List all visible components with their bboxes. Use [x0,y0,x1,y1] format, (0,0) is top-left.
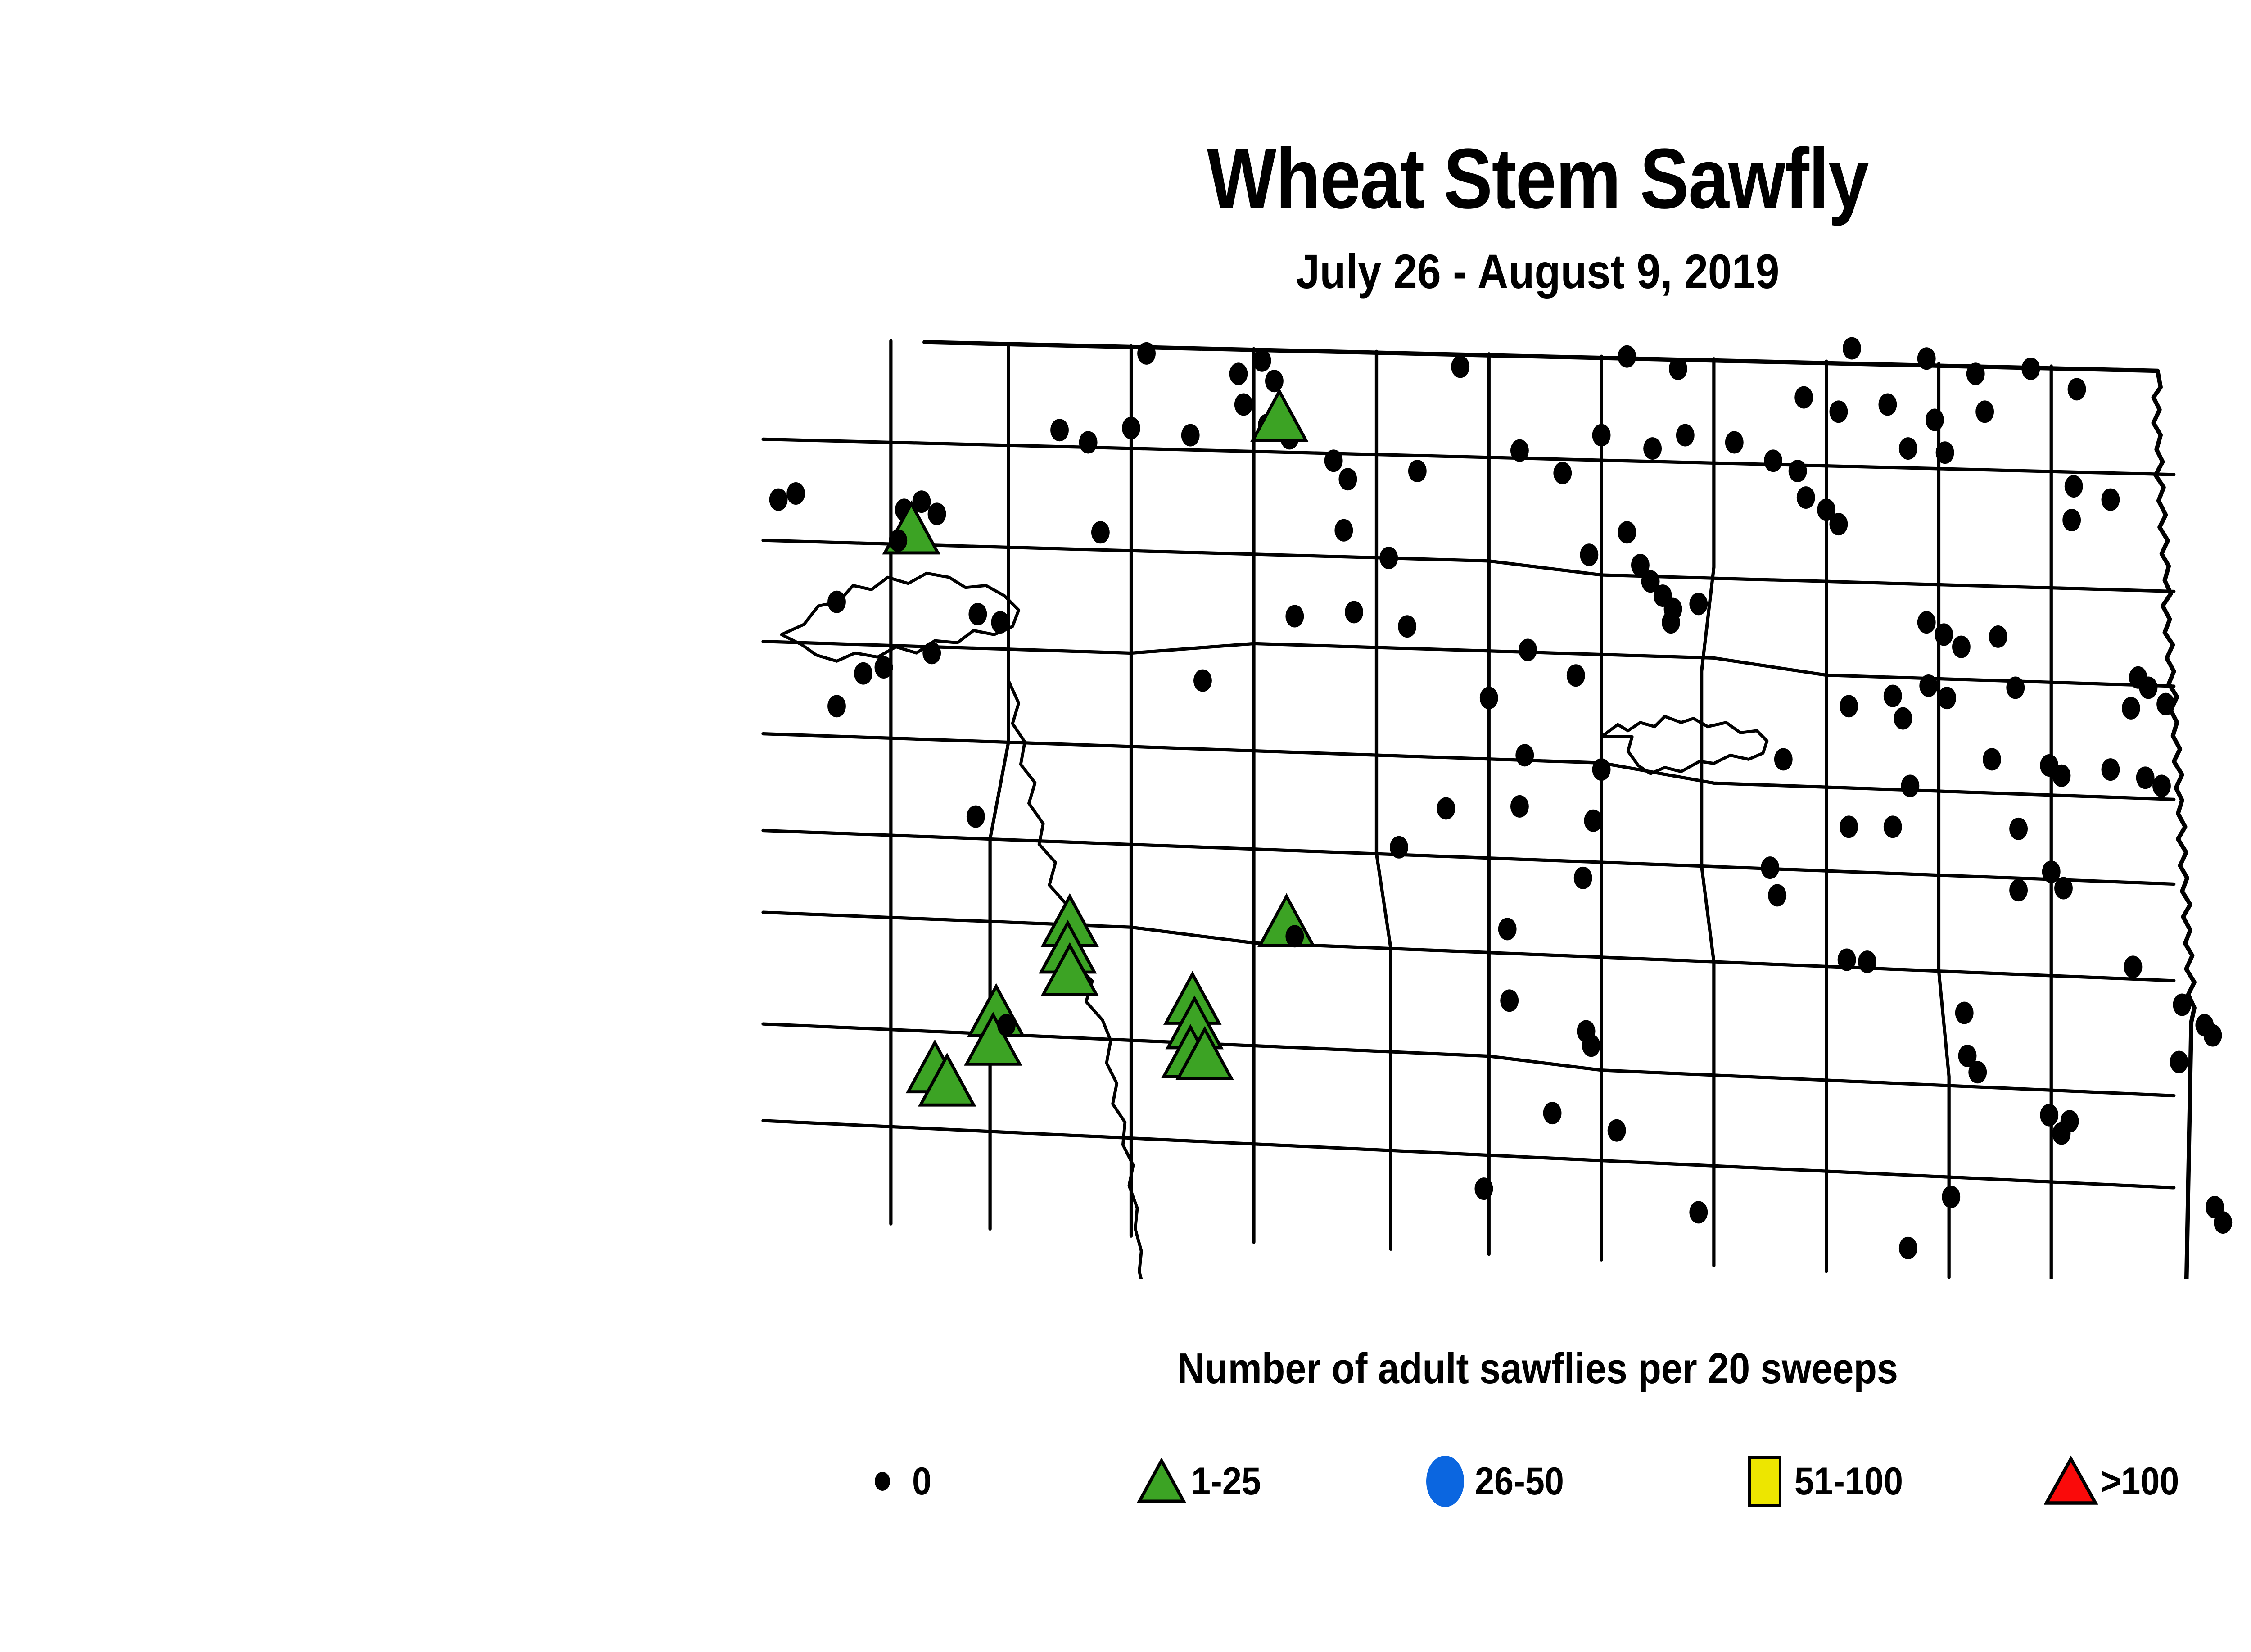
map-point-zero [2204,1024,2222,1047]
map-point-zero [1917,611,1936,634]
map-point-zero [769,489,788,511]
map-point-zero [1515,744,1534,766]
map-point-zero [1338,468,1357,490]
map-point-zero [1334,519,1353,542]
map-point-zero [1498,918,1517,940]
map-point-zero [1676,424,1695,447]
map-point-zero [2173,993,2191,1016]
blue-circle-icon [1418,1445,1472,1517]
state-outline [792,342,2195,1279]
map-point-zero [1574,867,1592,889]
map-point-zero [1952,636,1971,658]
county-row-line [763,439,2174,475]
map-point-zero [2065,475,2083,498]
sawfly-map-page: Wheat Stem Sawfly July 26 - August 9, 20… [0,0,2251,1652]
map-point-zero [1829,400,1848,423]
map-point-zero [875,656,893,679]
map-point-zero [1919,674,1938,697]
map-point-zero [1618,521,1636,543]
legend-item-51-100: 51-100 [1738,1436,1915,1526]
county-col-line [1702,359,1714,1266]
map-point-zero [1689,1201,1708,1223]
map-point-zero [1955,1002,1974,1024]
map-point-zero [1774,748,1793,770]
map-point-zero [2052,1122,2071,1145]
county-row-line [763,912,2174,981]
map-point-zero [2124,955,2142,978]
map-point-zero [1181,424,1200,447]
map-point-zero [1989,625,2007,648]
map-point-zero [786,482,805,505]
map-point-zero [1510,795,1529,818]
page-title: Wheat Stem Sawfly [215,130,2251,228]
map-point-zero [1091,521,1110,543]
map-point-zero [1592,424,1611,447]
map-point-zero [1234,393,1253,416]
map-point-zero [2062,509,2081,531]
black-dot-icon [855,1445,909,1517]
map-point-zero [827,695,846,717]
map-point-zero [1938,687,1956,709]
map-point-zero [1878,393,1897,416]
map-point-zero [1408,460,1427,482]
map-point-zero [1884,815,1902,838]
map-point-zero [1840,815,1858,838]
map-point-zero [2214,1211,2232,1234]
map-point-zero [1768,884,1786,906]
county-col-line [1377,351,1391,1249]
map-point-zero [1345,601,1363,623]
map-point-zero [1265,370,1284,392]
map-point-zero [1794,386,1813,409]
legend-item-over-100: >100 [2044,1436,2188,1526]
map-point-zero [1643,437,1662,460]
map-point-zero [1543,1102,1562,1124]
map-point-zero [1050,419,1069,441]
map-point-zero [1137,342,1156,365]
map-point-zero [1764,449,1782,472]
map-point-zero [967,806,985,828]
map-point-zero [2139,676,2158,699]
map-point-zero [1229,362,1248,385]
map-point-zero [2152,774,2171,797]
map-point-zero [1725,431,1744,453]
map-point-zero [2136,766,2155,789]
map-point-zero [1926,409,1944,431]
map-point-zero [1193,670,1212,692]
legend-label-51-100: 51-100 [1794,1459,1903,1504]
map-point-zero [1553,462,1572,484]
county-row-line [763,734,2174,800]
map-point-zero [1840,695,1858,717]
map-point-zero [827,591,846,613]
map-point-zero [1592,758,1611,781]
map-point-triangle [1253,391,1306,440]
legend-label-26-50: 26-50 [1475,1459,1564,1504]
map-point-zero [1975,400,1994,423]
legend-item-1-25: 1-25 [1135,1436,1269,1526]
map-point-zero [1510,439,1529,462]
green-triangle-icon [1135,1445,1189,1517]
map-point-zero [1789,460,1807,482]
map-point-zero [1122,417,1140,439]
yellow-square-icon [1738,1445,1792,1517]
map-point-zero [2021,358,2040,380]
red-triangle-icon [2044,1445,2098,1517]
map-point-zero [1901,774,1919,797]
map-point-zero [1285,605,1304,628]
map-point-zero [1797,486,1815,509]
map-point-zero [1608,1119,1626,1142]
map-point-zero [1935,623,1953,646]
map-point-zero [2009,818,2028,840]
map-point-zero [1884,685,1902,707]
map-point-zero [1480,687,1498,709]
map-point-zero [1324,449,1343,472]
map-point-zero [2170,1051,2188,1073]
county-col-line [1939,364,1949,1278]
legend-label-1-25: 1-25 [1191,1459,1261,1504]
map-point-zero [1942,1186,1960,1208]
map-point-zero [1899,437,1917,460]
map-point-zero [2040,1104,2058,1127]
map-point-zero [1917,347,1936,370]
map-point-zero [1966,362,1985,385]
legend-label-over-100: >100 [2101,1459,2179,1504]
map-point-zero [2102,758,2120,781]
map-point-zero [1618,345,1636,368]
map-point-zero [2009,879,2028,901]
map-point-zero [1519,638,1537,661]
map-point-zero [1079,431,1098,453]
map-point-zero [2054,877,2073,900]
map-point-zero [991,611,1009,634]
map-point-zero [1475,1177,1493,1200]
map-point-zero [1761,856,1779,879]
map-point-zero [889,529,907,552]
map-point-zero [1899,1237,1917,1259]
legend-label-0: 0 [912,1459,931,1504]
north-dakota-map [684,297,2251,1279]
county-col-line [990,344,1008,1229]
map-point-zero [1390,836,1408,859]
map-point-zero [1379,547,1398,569]
map-point-zero [1843,337,1861,360]
map-point-zero [2102,489,2120,511]
page-subtitle: July 26 - August 9, 2019 [185,243,2251,299]
map-point-zero [928,502,946,525]
legend-item-0: 0 [855,1436,934,1526]
legend-item-26-50: 26-50 [1418,1436,1574,1526]
map-point-zero [1662,611,1680,634]
map-point-zero [1253,349,1271,372]
map-point-zero [1689,593,1708,615]
map-point-zero [922,642,941,664]
map-point-zero [968,603,987,625]
map-point-zero [1437,797,1455,819]
map-point-zero [1584,810,1602,832]
county-row-line [763,540,2174,592]
map-point-zero [854,662,872,685]
map-point-zero [1500,989,1519,1012]
map-point-zero [1936,441,1954,464]
devils-lake-outline [1601,716,1767,774]
map-point-zero [1968,1061,1987,1083]
map-point-zero [1582,1034,1600,1057]
map-point-zero [1451,355,1469,378]
legend: 0 1-25 26-50 51-100 >100 [855,1436,2251,1540]
map-point-zero [997,1014,1016,1036]
map-point-zero [1398,615,1416,638]
map-point-zero [2122,697,2140,720]
map-point-zero [1580,543,1598,566]
legend-title: Number of adult sawflies per 20 sweeps [185,1344,2251,1394]
map-point-zero [1669,358,1687,380]
map-point-zero [1838,949,1856,971]
county-row-line [763,1121,2174,1188]
map-point-zero [2052,765,2071,787]
map-point-zero [1983,748,2001,770]
map-point-zero [1285,925,1304,947]
map-point-zero [1567,664,1585,687]
map-point-zero [2068,378,2086,400]
map-point-zero [1829,513,1848,535]
map-point-zero [1894,707,1912,730]
map-point-zero [2156,693,2175,715]
county-row-line [763,830,2174,884]
map-point-zero [2006,676,2025,699]
map-point-zero [1858,950,1876,973]
